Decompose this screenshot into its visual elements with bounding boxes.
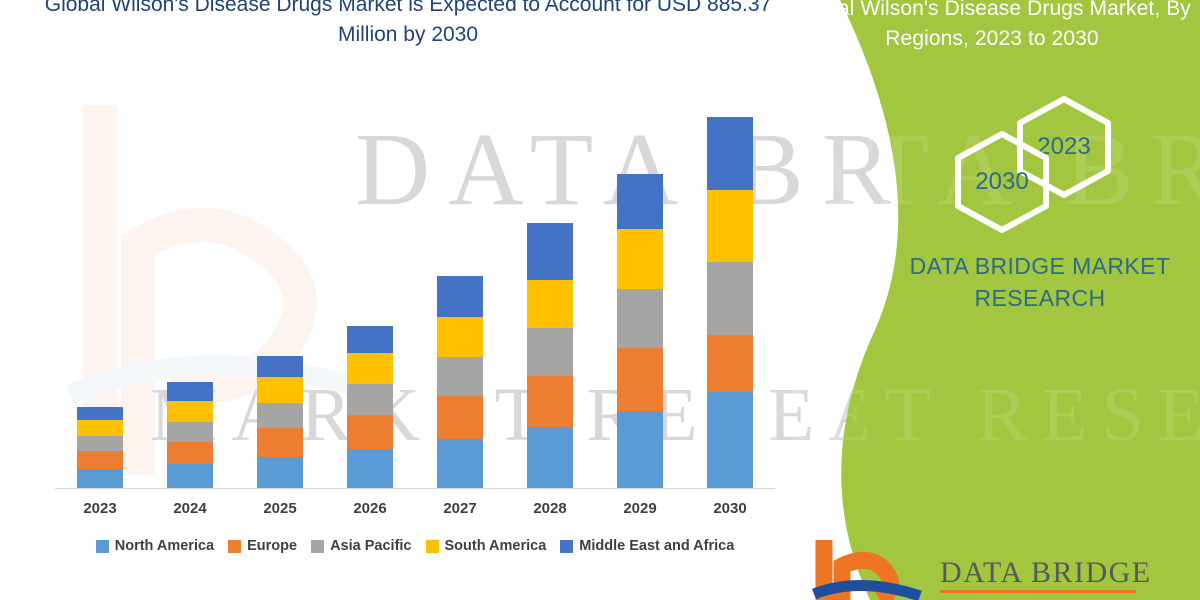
bar-column-2028	[527, 223, 573, 488]
bar-column-2025	[257, 356, 303, 488]
bar-segment	[167, 401, 213, 422]
legend-item[interactable]: Europe	[228, 538, 297, 554]
legend-item[interactable]: North America	[96, 538, 214, 554]
panel-brand: DATA BRIDGE MARKET RESEARCH	[890, 250, 1190, 314]
bar-segment	[347, 353, 393, 385]
legend-label: Europe	[247, 538, 297, 554]
bar-segment	[437, 439, 483, 488]
panel-brand-line-2: RESEARCH	[890, 282, 1190, 314]
bar-segment	[707, 392, 753, 488]
x-axis-labels: 20232024202520262027202820292030	[55, 498, 775, 526]
bar-segment	[617, 174, 663, 229]
bar-segment	[77, 407, 123, 420]
bar-segment	[347, 449, 393, 488]
bar-segment	[437, 276, 483, 317]
bar-segment	[707, 262, 753, 334]
infographic-root: DATA BRIDGE MARKET RESEARCH Global Wilso…	[0, 0, 1200, 600]
hexagon-2030-label: 2030	[954, 130, 1050, 234]
x-axis-label-2024: 2024	[145, 500, 235, 517]
bar-segment	[707, 335, 753, 393]
bar-segment	[617, 229, 663, 289]
bar-segment	[617, 348, 663, 411]
bar-segment	[527, 280, 573, 328]
chart-title: Global Wilson's Disease Drugs Market is …	[18, 0, 798, 50]
bar-segment	[347, 415, 393, 450]
bar-segment	[527, 376, 573, 427]
bar-segment	[257, 403, 303, 428]
x-axis-line	[55, 488, 775, 489]
bar-segment	[617, 289, 663, 349]
bar-column-2024	[167, 382, 213, 488]
stacked-bar-plot	[55, 110, 775, 488]
bar-segment	[527, 328, 573, 375]
hexagon-group: 2023 2030	[902, 95, 1112, 230]
legend-label: Asia Pacific	[330, 538, 411, 554]
x-axis-label-2023: 2023	[55, 500, 145, 517]
bar-segment	[167, 442, 213, 464]
x-axis-label-2029: 2029	[595, 500, 685, 517]
bar-column-2027	[437, 276, 483, 488]
x-axis-label-2025: 2025	[235, 500, 325, 517]
bar-column-2026	[347, 326, 393, 488]
panel-watermark-line-2: MARKET RESEARCH	[770, 372, 1200, 459]
legend-swatch-icon	[311, 540, 324, 553]
legend-label: South America	[445, 538, 547, 554]
bar-segment	[257, 428, 303, 456]
panel-title: Global Wilson's Disease Drugs Market, By…	[792, 0, 1192, 54]
x-axis-label-2026: 2026	[325, 500, 415, 517]
bar-segment	[527, 427, 573, 488]
bar-segment	[167, 382, 213, 401]
bar-segment	[437, 317, 483, 357]
hexagon-2030: 2030	[954, 130, 1050, 234]
bar-column-2030	[707, 117, 753, 488]
x-axis-label-2028: 2028	[505, 500, 595, 517]
bar-segment	[257, 356, 303, 377]
bar-segment	[167, 422, 213, 442]
bar-segment	[707, 117, 753, 189]
bar-segment	[77, 469, 123, 488]
legend-swatch-icon	[228, 540, 241, 553]
legend-item[interactable]: South America	[426, 538, 547, 554]
bar-segment	[527, 223, 573, 280]
bar-segment	[167, 464, 213, 488]
legend-swatch-icon	[96, 540, 109, 553]
x-axis-label-2027: 2027	[415, 500, 505, 517]
legend-label: Middle East and Africa	[579, 538, 734, 554]
bar-segment	[437, 396, 483, 439]
bar-segment	[77, 436, 123, 452]
bar-segment	[707, 190, 753, 262]
bar-segment	[257, 377, 303, 403]
legend-item[interactable]: Asia Pacific	[311, 538, 411, 554]
svg-text:DATA BRIDGE: DATA BRIDGE	[940, 556, 1152, 589]
bar-segment	[77, 451, 123, 469]
legend-label: North America	[115, 538, 214, 554]
bar-segment	[617, 411, 663, 488]
legend-swatch-icon	[426, 540, 439, 553]
bar-segment	[347, 384, 393, 414]
x-axis-label-2030: 2030	[685, 500, 775, 517]
bar-segment	[437, 357, 483, 396]
chart-legend: North AmericaEuropeAsia PacificSouth Ame…	[40, 538, 790, 554]
legend-swatch-icon	[560, 540, 573, 553]
bar-segment	[347, 326, 393, 352]
bar-segment	[77, 420, 123, 436]
bar-segment	[257, 457, 303, 489]
bar-column-2023	[77, 407, 123, 488]
dbmr-logo: DATA BRIDGE MARKET RESEARCH	[812, 538, 1172, 600]
bar-column-2029	[617, 174, 663, 488]
legend-item[interactable]: Middle East and Africa	[560, 538, 734, 554]
panel-brand-line-1: DATA BRIDGE MARKET	[890, 250, 1190, 282]
dbmr-logo-mark	[814, 540, 920, 600]
